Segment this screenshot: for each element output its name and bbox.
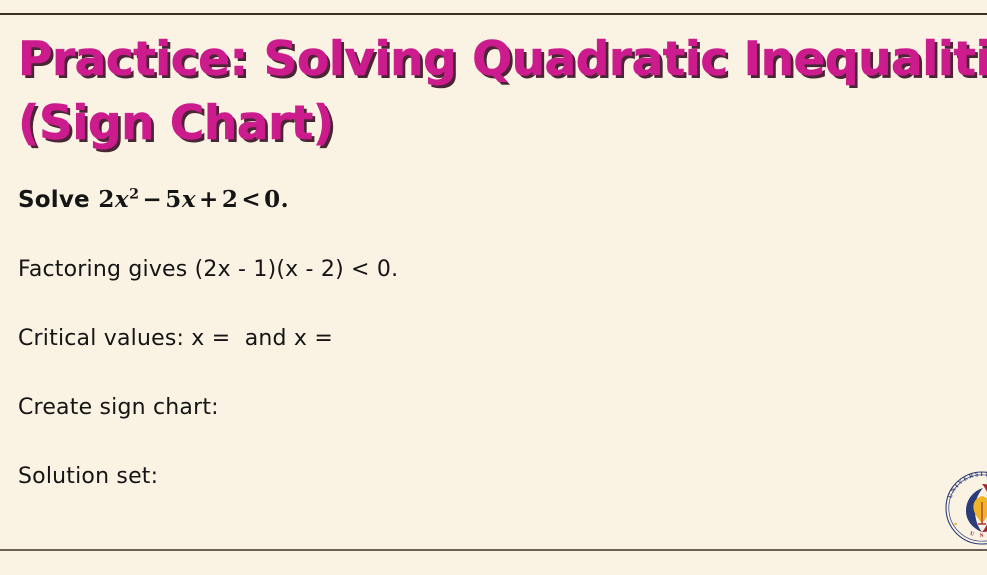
create-sign-chart-line: Create sign chart: <box>18 394 918 422</box>
factoring-line: Factoring gives (2x - 1)(x - 2) < 0. <box>18 256 918 284</box>
quadratic-expression: 2x2−5x+2<0. <box>90 186 289 213</box>
slide-body: Solve 2x2−5x+2<0. Factoring gives (2x - … <box>18 186 918 491</box>
solution-set-line: Solution set: <box>18 463 918 491</box>
coefficient-a: 2 <box>98 186 115 213</box>
slide-canvas: Practice: Solving Quadratic Inequalities… <box>0 0 987 575</box>
divider-bottom <box>0 549 987 551</box>
minus-operator: − <box>140 186 166 213</box>
page-title-line-2: (Sign Chart) <box>18 92 987 156</box>
divider-top <box>0 13 987 15</box>
less-than-operator: < <box>238 186 264 213</box>
right-hand-side: 0. <box>264 186 289 213</box>
critical-values-line: Critical values: x = and x = <box>18 325 918 353</box>
page-title-line-1: Practice: Solving Quadratic Inequalities <box>18 28 987 92</box>
plus-operator: + <box>196 186 222 213</box>
page-title: Practice: Solving Quadratic Inequalities… <box>18 28 987 156</box>
svg-text:U N I: U N I <box>969 531 987 539</box>
variable-x-2: x <box>182 186 196 213</box>
variable-x: x <box>115 186 129 213</box>
constant-term: 2 <box>222 186 239 213</box>
svg-text:UNIVERSITI MALA: UNIVERSITI MALA <box>947 471 987 499</box>
solve-label: Solve <box>18 187 90 213</box>
coefficient-b: 5 <box>165 186 182 213</box>
solve-problem-line: Solve 2x2−5x+2<0. <box>18 186 918 215</box>
exponent-two: 2 <box>129 186 139 202</box>
university-seal-logo: UNIVERSITI MALA U N I <box>942 468 987 548</box>
